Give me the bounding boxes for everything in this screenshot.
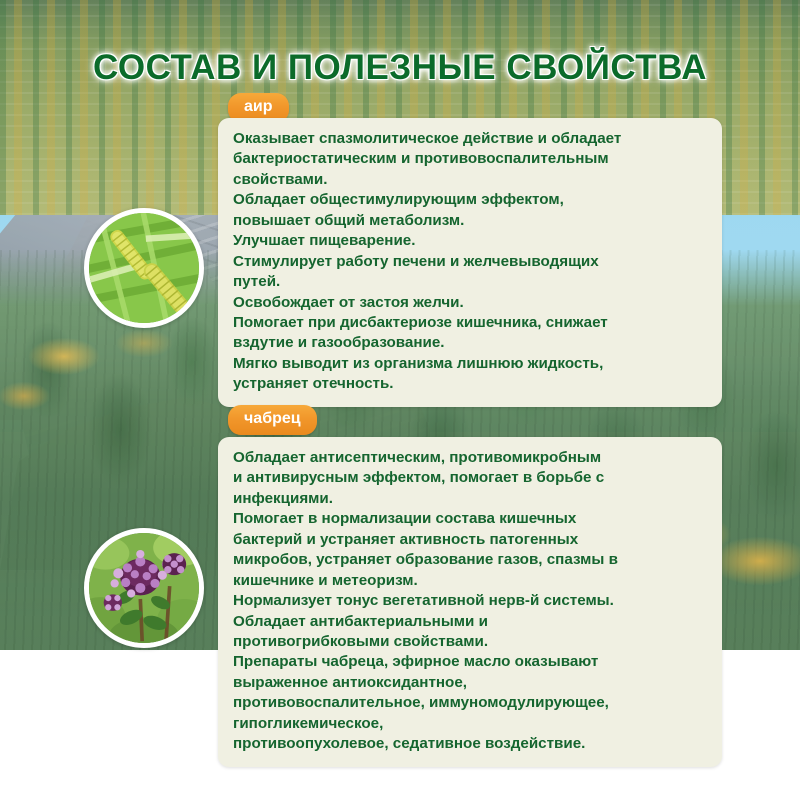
benefits-panel-chabrets: Обладает антисептическим, противомикробн… — [218, 437, 722, 767]
benefit-line: повышает общий метаболизм. — [233, 211, 706, 231]
benefit-line: устраняет отечность. — [233, 374, 706, 394]
benefit-line: Обладает антисептическим, противомикробн… — [233, 448, 706, 468]
benefit-line: микробов, устраняет образование газов, с… — [233, 550, 706, 570]
benefit-line: противогрибковыми свойствами. — [233, 632, 706, 652]
benefit-line: Улучшает пищеварение. — [233, 231, 706, 251]
infographic-poster: СОСТАВ И ПОЛЕЗНЫЕ СВОЙСТВА аир — [0, 0, 800, 800]
section-badge-chabrets: чабрец — [228, 405, 317, 435]
benefits-panel-air: Оказывает спазмолитическое действие и об… — [218, 118, 722, 407]
benefit-line: противоопухолевое, седативное воздействи… — [233, 734, 706, 754]
benefit-line: инфекциями. — [233, 489, 706, 509]
benefit-line: выраженное антиоксидантное, — [233, 673, 706, 693]
benefit-line: Помогает при дисбактериозе кишечника, сн… — [233, 313, 706, 333]
benefit-line: вздутие и газообразование. — [233, 333, 706, 353]
benefit-line: бактерий и устраняет активность патогенн… — [233, 530, 706, 550]
benefit-line: гипогликемическое, — [233, 714, 706, 734]
benefit-line: Освобождает от застоя желчи. — [233, 293, 706, 313]
benefit-line: Оказывает спазмолитическое действие и об… — [233, 129, 706, 149]
benefit-line: Обладает общестимулирующим эффектом, — [233, 190, 706, 210]
thyme-plant-photo — [84, 528, 204, 648]
thyme-illustration-icon — [89, 533, 199, 643]
benefit-line: и антивирусным эффектом, помогает в борь… — [233, 468, 706, 488]
calamus-illustration-icon — [89, 213, 199, 323]
benefit-line: Стимулирует работу печени и желчевыводящ… — [233, 252, 706, 272]
benefit-line: Помогает в нормализации состава кишечных — [233, 509, 706, 529]
benefit-line: Обладает антибактериальными и — [233, 612, 706, 632]
page-title: СОСТАВ И ПОЛЕЗНЫЕ СВОЙСТВА — [0, 48, 800, 88]
benefit-line: бактериостатическим и противовоспалитель… — [233, 149, 706, 169]
benefit-line: путей. — [233, 272, 706, 292]
benefit-line: Мягко выводит из организма лишнюю жидкос… — [233, 354, 706, 374]
benefit-line: Препараты чабреца, эфирное масло оказыва… — [233, 652, 706, 672]
benefit-line: противовоспалительное, иммуномодулирующе… — [233, 693, 706, 713]
benefit-line: свойствами. — [233, 170, 706, 190]
benefit-line: Нормализует тонус вегетативной нерв-й си… — [233, 591, 706, 611]
calamus-plant-photo — [84, 208, 204, 328]
benefit-line: кишечнике и метеоризм. — [233, 571, 706, 591]
